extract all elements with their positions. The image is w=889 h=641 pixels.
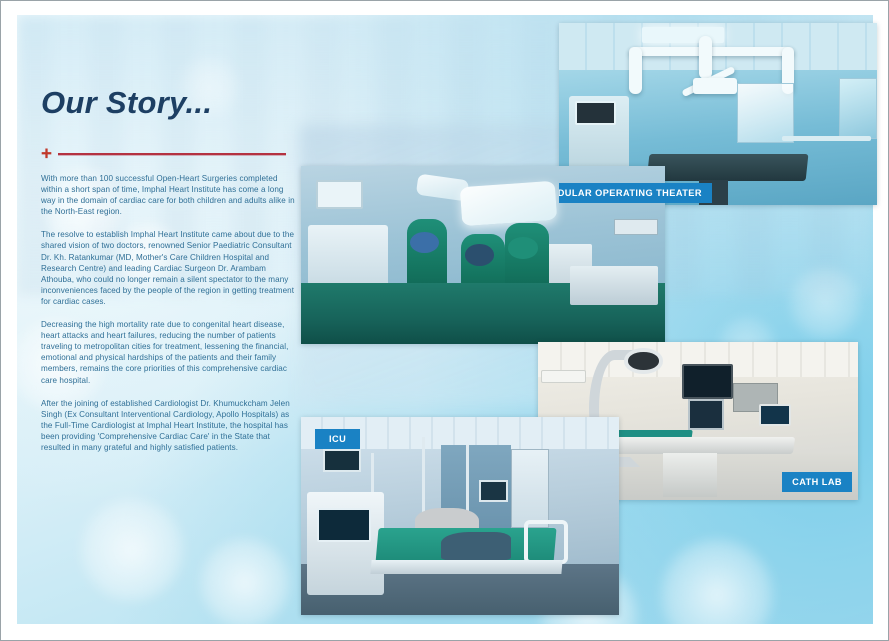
- bokeh-circle: [197, 535, 293, 624]
- surgical-cap: [508, 237, 537, 258]
- story-paragraphs: With more than 100 successful Open-Heart…: [41, 173, 299, 453]
- patient-table: [614, 437, 796, 454]
- story-paragraph: Decreasing the high mortality rate due t…: [41, 319, 299, 386]
- wall-shelf-monitor: [614, 219, 658, 235]
- bedside-monitor: [323, 449, 361, 473]
- surgical-light-arm: [699, 36, 712, 80]
- surgical-light-main: [460, 181, 557, 227]
- patient-table-base: [663, 453, 717, 497]
- bedside-monitor: [479, 480, 508, 502]
- ward-doorway: [511, 449, 549, 528]
- control-touchscreen: [759, 404, 791, 426]
- story-paragraph: The resolve to establish Imphal Heart In…: [41, 229, 299, 307]
- ceiling-light-panel: [642, 27, 725, 43]
- story-paragraph: After the joining of established Cardiol…: [41, 398, 299, 453]
- story-paragraph: With more than 100 successful Open-Heart…: [41, 173, 299, 217]
- surgical-light-arm: [629, 47, 642, 94]
- bed-side-rail: [524, 520, 569, 564]
- ventilator-screen: [317, 508, 371, 542]
- surgical-light-arm: [629, 47, 794, 56]
- page-title: Our Story...: [41, 87, 299, 118]
- operating-table: [647, 154, 809, 181]
- attendant-figure: [441, 532, 511, 560]
- bokeh-circle: [787, 265, 863, 341]
- anaesthesia-monitor-screen: [575, 101, 616, 125]
- story-column: Our Story... With more than 100 successf…: [41, 87, 299, 465]
- bed-frame: [370, 560, 562, 574]
- instrument-tray: [570, 266, 657, 305]
- hemodynamic-monitor: [682, 364, 733, 399]
- badge-modular-operating-theater: MODULAR OPERATING THEATER: [559, 183, 712, 203]
- badge-icu: ICU: [315, 429, 360, 449]
- viewing-window: [737, 83, 794, 143]
- viewing-window: [839, 78, 877, 140]
- iv-pole: [422, 437, 425, 516]
- bokeh-circle: [77, 495, 187, 605]
- c-arm-detector-ring: [624, 348, 662, 373]
- wall-monitor: [316, 180, 363, 208]
- title-divider: [41, 148, 286, 159]
- badge-cath-lab: CATH LAB: [782, 472, 852, 492]
- brochure-page: Our Story... With more than 100 successf…: [0, 0, 889, 641]
- surgical-cap: [465, 244, 494, 265]
- equipment-rail: [782, 136, 871, 141]
- medical-cross-icon: [41, 148, 52, 159]
- bokeh-circle: [657, 535, 777, 624]
- angiography-display: [688, 399, 723, 431]
- photo-icu: ICU: [301, 417, 619, 615]
- air-conditioner: [541, 370, 586, 383]
- divider-line: [58, 153, 286, 155]
- surgical-light-head: [693, 78, 738, 94]
